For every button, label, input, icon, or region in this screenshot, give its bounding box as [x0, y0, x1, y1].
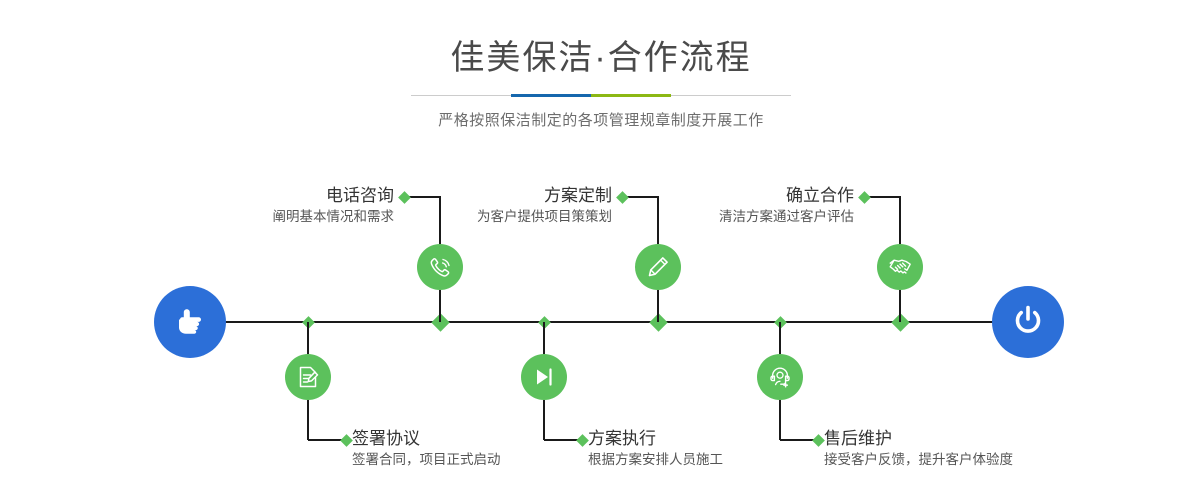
step-1-label: 电话咨询 阐明基本情况和需求 — [180, 185, 394, 227]
step-6-stem-lower — [779, 400, 781, 440]
step-3-label-dot — [616, 191, 629, 204]
step-2-label: 签署协议 签署合同，项目正式启动 — [352, 428, 592, 470]
step-6-label: 售后维护 接受客户反馈，提升客户体验度 — [824, 428, 1104, 470]
step-4-label: 方案执行 根据方案安排人员施工 — [588, 428, 828, 470]
step-5-desc: 清洁方案通过客户评估 — [648, 207, 854, 227]
step-4-stem-upper — [543, 322, 545, 354]
handshake-icon — [887, 254, 913, 280]
step-3-title: 方案定制 — [400, 185, 612, 207]
phone-call-icon — [427, 254, 453, 280]
step-4-stem-lower — [543, 400, 545, 440]
document-sign-icon — [295, 364, 321, 390]
step-5-label-dot — [858, 191, 871, 204]
step-6-badge[interactable] — [757, 354, 803, 400]
step-1-badge[interactable] — [417, 244, 463, 290]
power-icon — [1008, 300, 1048, 345]
pencil-edit-icon — [645, 254, 671, 280]
timeline-start-node[interactable] — [154, 286, 226, 358]
step-6-desc: 接受客户反馈，提升客户体验度 — [824, 450, 1104, 470]
step-1-title: 电话咨询 — [180, 185, 394, 207]
step-4-desc: 根据方案安排人员施工 — [588, 450, 828, 470]
step-5-stem-lower — [899, 290, 901, 322]
step-2-badge[interactable] — [285, 354, 331, 400]
step-6-stem-upper — [779, 322, 781, 354]
step-5-title: 确立合作 — [648, 185, 854, 207]
pointing-hand-icon — [170, 300, 210, 345]
step-2-stem-lower — [307, 400, 309, 440]
step-5-label: 确立合作 清洁方案通过客户评估 — [648, 185, 854, 227]
play-skip-icon — [531, 364, 557, 390]
step-5-stem-upper — [899, 196, 901, 244]
step-1-desc: 阐明基本情况和需求 — [180, 207, 394, 227]
step-3-stem-lower — [657, 290, 659, 322]
timeline-end-node[interactable] — [992, 286, 1064, 358]
step-1-stem-lower — [439, 290, 441, 322]
step-5-badge[interactable] — [877, 244, 923, 290]
step-4-badge[interactable] — [521, 354, 567, 400]
step-3-label: 方案定制 为客户提供项目策策划 — [400, 185, 612, 227]
step-3-desc: 为客户提供项目策策划 — [400, 207, 612, 227]
headset-support-icon — [767, 364, 793, 390]
step-2-desc: 签署合同，项目正式启动 — [352, 450, 592, 470]
step-2-stem-upper — [307, 322, 309, 354]
step-6-title: 售后维护 — [824, 428, 1104, 450]
step-2-label-dot — [340, 434, 353, 447]
process-timeline: 电话咨询 阐明基本情况和需求 签署协议 签署合同，项目正式启动 — [0, 0, 1202, 502]
step-3-badge[interactable] — [635, 244, 681, 290]
